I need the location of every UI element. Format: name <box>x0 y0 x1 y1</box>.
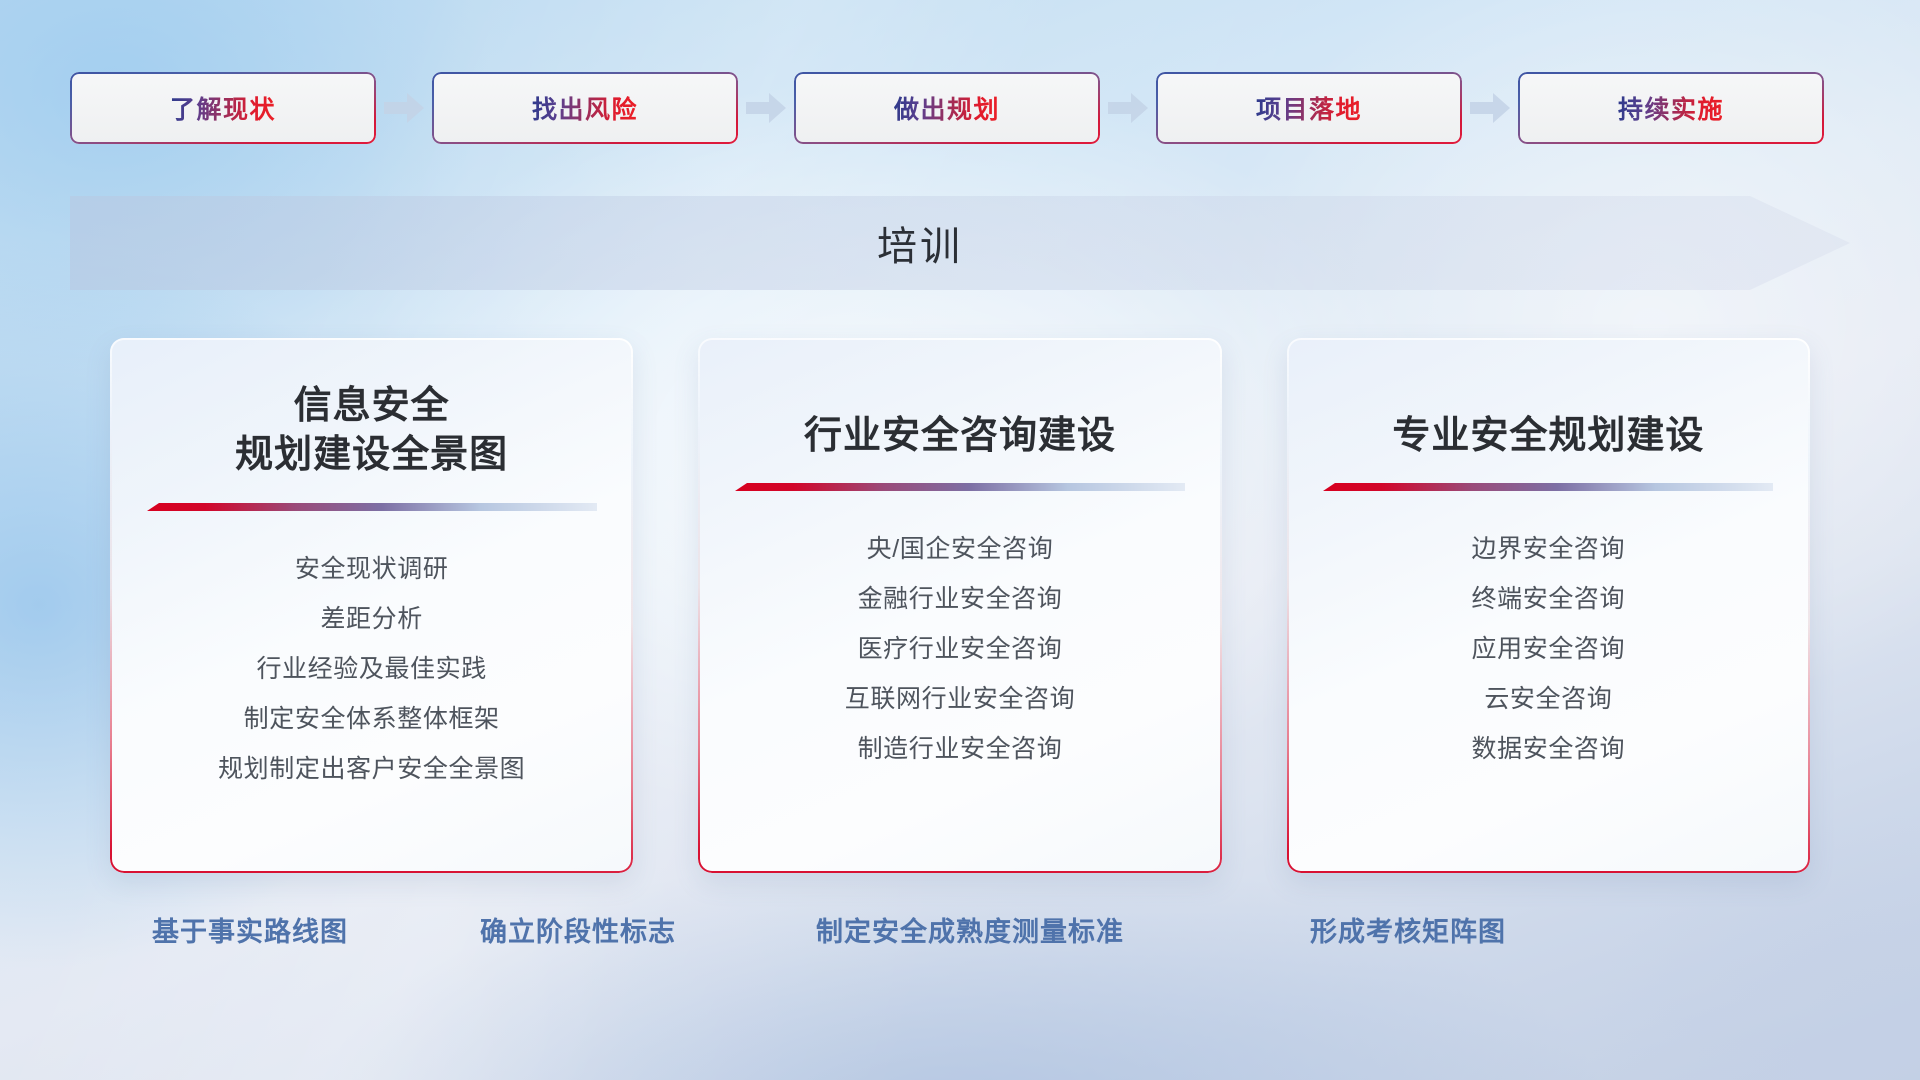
list-item: 安全现状调研 <box>140 544 603 594</box>
footer-labels: 基于事实路线图 确立阶段性标志 制定安全成熟度测量标准 形成考核矩阵图 <box>0 910 1920 968</box>
card-title: 专业安全规划建设 <box>1317 412 1780 461</box>
list-item: 边界安全咨询 <box>1317 524 1780 574</box>
divider-holder <box>140 503 603 514</box>
step-wrap-4: 项目落地 <box>1156 72 1518 144</box>
step-box-continuous-implementation[interactable]: 持续实施 <box>1518 72 1824 144</box>
arrow-right-icon <box>376 72 432 144</box>
step-box-find-risk[interactable]: 找出风险 <box>432 72 738 144</box>
step-box-understand-status[interactable]: 了解现状 <box>70 72 376 144</box>
arrow-right-icon <box>738 72 794 144</box>
card-title-line: 行业安全咨询建设 <box>728 412 1191 461</box>
step-label: 持续实施 <box>1618 90 1724 126</box>
card-title-line: 专业安全规划建设 <box>1317 412 1780 461</box>
card-title-line: 信息安全 <box>140 382 603 431</box>
divider-holder <box>1317 483 1780 494</box>
list-item: 制定安全体系整体框架 <box>140 694 603 744</box>
list-item: 行业经验及最佳实践 <box>140 644 603 694</box>
step-label: 找出风险 <box>532 90 638 126</box>
arrow-right-icon <box>1462 72 1518 144</box>
footer-label-milestone: 确立阶段性标志 <box>480 910 676 949</box>
step-wrap-1: 了解现状 <box>70 72 432 144</box>
list-item: 终端安全咨询 <box>1317 574 1780 624</box>
list-item: 规划制定出客户安全全景图 <box>140 744 603 794</box>
card-divider <box>147 503 597 514</box>
step-box-project-landing[interactable]: 项目落地 <box>1156 72 1462 144</box>
step-label: 做出规划 <box>894 90 1000 126</box>
card-divider <box>735 483 1185 494</box>
card-title: 信息安全 规划建设全景图 <box>140 382 603 481</box>
card-list: 边界安全咨询 终端安全咨询 应用安全咨询 云安全咨询 数据安全咨询 <box>1317 524 1780 774</box>
slide-canvas: 了解现状 找出风险 做出规划 <box>0 0 1920 1080</box>
footer-label-roadmap: 基于事实路线图 <box>152 910 348 949</box>
card-divider <box>1323 483 1773 494</box>
list-item: 差距分析 <box>140 594 603 644</box>
card-title: 行业安全咨询建设 <box>728 412 1191 461</box>
card-info-security-blueprint[interactable]: 信息安全 规划建设全景图 <box>110 338 633 873</box>
process-step-flow: 了解现状 找出风险 做出规划 <box>0 72 1920 144</box>
list-item: 应用安全咨询 <box>1317 624 1780 674</box>
training-banner: 培训 <box>70 196 1850 290</box>
card-row: 信息安全 规划建设全景图 <box>0 338 1920 878</box>
step-wrap-3: 做出规划 <box>794 72 1156 144</box>
card-inner: 专业安全规划建设 <box>1287 338 1810 873</box>
footer-label-maturity: 制定安全成熟度测量标准 <box>816 910 1124 949</box>
divider-holder <box>728 483 1191 494</box>
banner-title: 培训 <box>70 196 1770 290</box>
list-item: 金融行业安全咨询 <box>728 574 1191 624</box>
list-item: 央/国企安全咨询 <box>728 524 1191 574</box>
arrow-right-icon <box>1100 72 1156 144</box>
card-inner: 行业安全咨询建设 <box>698 338 1221 873</box>
card-professional-security-planning[interactable]: 专业安全规划建设 <box>1287 338 1810 873</box>
card-list: 安全现状调研 差距分析 行业经验及最佳实践 制定安全体系整体框架 规划制定出客户… <box>140 544 603 794</box>
list-item: 云安全咨询 <box>1317 674 1780 724</box>
step-label: 了解现状 <box>170 90 276 126</box>
list-item: 互联网行业安全咨询 <box>728 674 1191 724</box>
card-industry-security-consulting[interactable]: 行业安全咨询建设 <box>698 338 1221 873</box>
card-list: 央/国企安全咨询 金融行业安全咨询 医疗行业安全咨询 互联网行业安全咨询 制造行… <box>728 524 1191 774</box>
step-label: 项目落地 <box>1256 90 1362 126</box>
card-inner: 信息安全 规划建设全景图 <box>110 338 633 873</box>
footer-label-matrix: 形成考核矩阵图 <box>1310 910 1506 949</box>
list-item: 数据安全咨询 <box>1317 724 1780 774</box>
step-wrap-2: 找出风险 <box>432 72 794 144</box>
list-item: 制造行业安全咨询 <box>728 724 1191 774</box>
card-title-line: 规划建设全景图 <box>140 431 603 480</box>
step-box-make-plan[interactable]: 做出规划 <box>794 72 1100 144</box>
step-wrap-5: 持续实施 <box>1518 72 1824 144</box>
list-item: 医疗行业安全咨询 <box>728 624 1191 674</box>
